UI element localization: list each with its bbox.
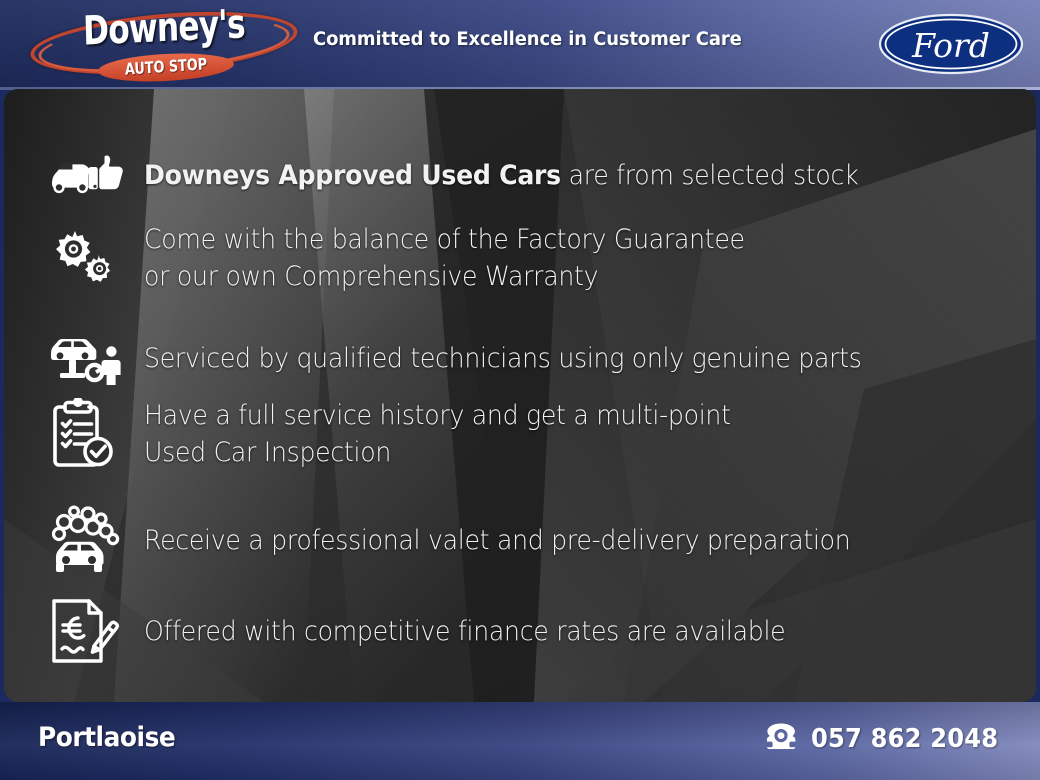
phone-number: 057 862 2048 (811, 724, 998, 754)
benefits-list: Downeys Approved Used Cars are from sele… (4, 89, 1036, 702)
advert-page: Downey's AUTO STOP Committed to Excellen… (0, 0, 1040, 780)
ford-oval-logo-icon: Ford (878, 13, 1024, 75)
benefit-row: Serviced by qualified technicians using … (48, 329, 1028, 387)
car-wash-icon (48, 505, 144, 575)
clipboard-checklist-icon (48, 398, 144, 470)
benefit-text-rest: Offered with competitive finance rates a… (144, 616, 785, 647)
gears-icon (48, 228, 144, 288)
benefit-row: Come with the balance of the Factory Gua… (48, 221, 1028, 295)
benefit-text: Downeys Approved Used Cars are from sele… (144, 157, 858, 194)
benefit-text-rest: Receive a professional valet and pre-del… (144, 525, 850, 556)
benefit-row: Downeys Approved Used Cars are from sele… (48, 149, 1028, 201)
benefit-text-rest: are from selected stock (561, 160, 859, 191)
header-tagline: Committed to Excellence in Customer Care (313, 29, 742, 50)
svg-text:Ford: Ford (911, 26, 990, 65)
benefit-row: Have a full service history and get a mu… (48, 397, 1028, 471)
benefit-text: Offered with competitive finance rates a… (144, 613, 785, 650)
benefit-text-rest: Serviced by qualified technicians using … (144, 343, 862, 374)
car-thumbs-up-icon (48, 149, 144, 201)
euro-document-signature-icon (48, 595, 144, 667)
benefit-text: Serviced by qualified technicians using … (144, 340, 862, 377)
page-header: Downey's AUTO STOP Committed to Excellen… (0, 0, 1040, 90)
benefit-row: Offered with competitive finance rates a… (48, 595, 1028, 667)
benefit-text-strong: Downeys Approved Used Cars (144, 160, 561, 191)
benefit-row: Receive a professional valet and pre-del… (48, 505, 1028, 575)
branch-location: Portlaoise (38, 722, 175, 753)
phone-block[interactable]: 057 862 2048 (764, 722, 1012, 755)
benefit-text-rest: Have a full service history and get a mu… (144, 400, 731, 468)
benefits-panel: Downeys Approved Used Cars are from sele… (4, 89, 1036, 702)
telephone-icon (764, 722, 798, 755)
benefit-text: Have a full service history and get a mu… (144, 397, 731, 471)
benefit-text: Receive a professional valet and pre-del… (144, 522, 850, 559)
page-footer: Portlaoise 057 862 2048 (0, 702, 1040, 780)
dealer-logo: Downey's AUTO STOP (28, 4, 300, 84)
car-lift-mechanic-icon (48, 329, 144, 387)
logo-wordmark: Downey's (57, 1, 270, 54)
benefit-text: Come with the balance of the Factory Gua… (144, 221, 745, 295)
benefit-text-rest: Come with the balance of the Factory Gua… (144, 224, 745, 292)
